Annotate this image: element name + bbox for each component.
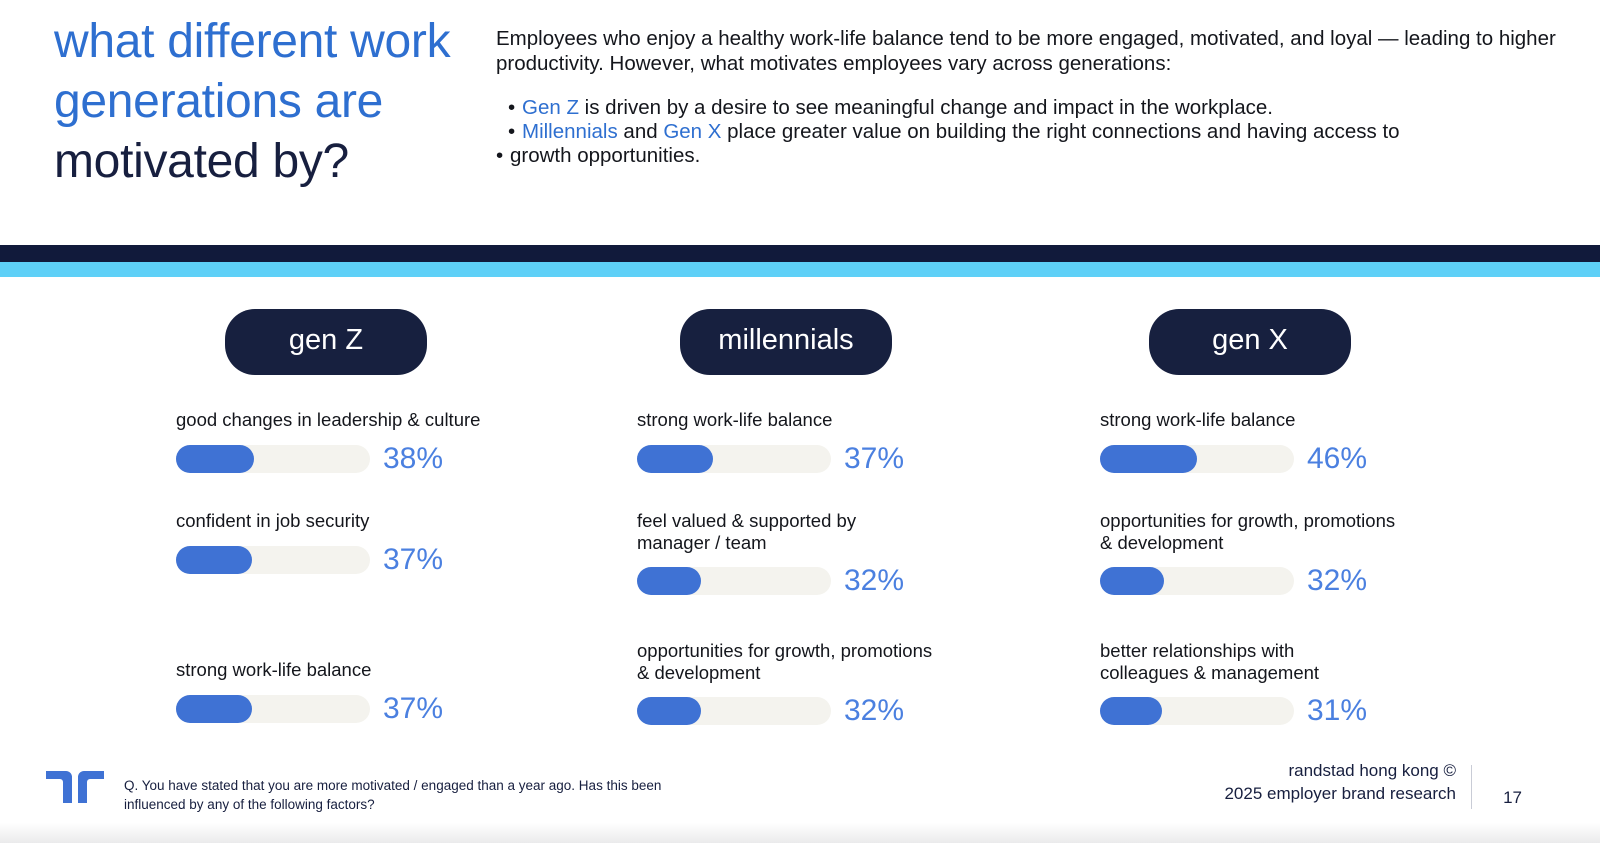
metric-label-line2: & development	[637, 662, 1057, 684]
title-line-2: generations are	[54, 72, 494, 132]
metric-row: feel valued & supported by manager / tea…	[637, 510, 1057, 596]
progress-fill	[176, 695, 252, 723]
metric-row: opportunities for growth, promotions & d…	[637, 640, 1057, 726]
progress-track	[176, 445, 370, 473]
metric-value: 31%	[1307, 696, 1367, 726]
title-line-1: what different work	[54, 12, 494, 72]
progress-fill	[1100, 697, 1162, 725]
metric-label-line2: manager / team	[637, 532, 1057, 554]
metric-label-line2: & development	[1100, 532, 1520, 554]
intro-block: Employees who enjoy a healthy work-life …	[496, 26, 1576, 168]
progress-track	[637, 567, 831, 595]
metric-label: opportunities for growth, promotions	[637, 640, 1057, 662]
metric-label-line2: colleagues & management	[1100, 662, 1520, 684]
bullet-0-text: is driven by a desire to see meaningful …	[579, 96, 1273, 119]
credit-line-1: randstad hong kong ©	[1224, 759, 1456, 782]
bullet-dot-icon: •	[508, 120, 515, 144]
metric-row: opportunities for growth, promotions & d…	[1100, 510, 1520, 596]
metric-value: 37%	[844, 444, 904, 474]
pill-wrap: millennials	[668, 309, 904, 375]
pill-wrap: gen Z	[208, 309, 444, 375]
metric-bar-row: 37%	[176, 694, 596, 724]
progress-track	[1100, 697, 1294, 725]
slide-header: what different work generations are moti…	[0, 0, 1600, 245]
progress-fill	[637, 567, 701, 595]
metric-label: confident in job security	[176, 510, 596, 532]
credit-line-2: 2025 employer brand research	[1224, 782, 1456, 805]
metric-value: 32%	[844, 566, 904, 596]
page-number: 17	[1503, 789, 1522, 806]
generation-bullet-list: • Gen Z is driven by a desire to see mea…	[496, 96, 1576, 168]
bullet-1-text-b: place greater value on building the righ…	[721, 120, 1399, 143]
metric-label: strong work-life balance	[176, 659, 596, 681]
progress-fill	[1100, 567, 1164, 595]
metric-bar-row: 38%	[176, 444, 596, 474]
metric-bar-row: 46%	[1100, 444, 1520, 474]
progress-track	[1100, 445, 1294, 473]
generation-badge-gen-z[interactable]: gen Z	[225, 309, 427, 375]
metric-value: 46%	[1307, 444, 1367, 474]
metric-value: 37%	[383, 694, 443, 724]
divider-band-navy	[0, 245, 1600, 262]
bullet-0-highlight: Gen Z	[522, 96, 579, 119]
metric-row: strong work-life balance 37%	[637, 409, 1057, 474]
survey-question-line-1: Q. You have stated that you are more mot…	[124, 776, 764, 795]
randstad-logo	[44, 765, 106, 805]
divider-band-cyan	[0, 262, 1600, 277]
bullet-1-text-a: and	[618, 120, 664, 143]
slide: what different work generations are moti…	[0, 0, 1600, 843]
footer-shadow	[0, 823, 1600, 843]
metric-value: 38%	[383, 444, 443, 474]
progress-track	[637, 445, 831, 473]
survey-question-note: Q. You have stated that you are more mot…	[124, 776, 764, 814]
progress-fill	[637, 697, 701, 725]
metric-label: good changes in leadership & culture	[176, 409, 596, 431]
credit-divider	[1471, 765, 1472, 809]
metric-bar-row: 32%	[637, 696, 1057, 726]
bullet-millennials-gen-x: • Millennials and Gen X place greater va…	[496, 120, 1576, 144]
pill-wrap: gen X	[1132, 309, 1368, 375]
metric-label: feel valued & supported by	[637, 510, 1057, 532]
survey-question-line-2: influenced by any of the following facto…	[124, 795, 764, 814]
progress-track	[1100, 567, 1294, 595]
progress-track	[176, 546, 370, 574]
generations-comparison: gen Z good changes in leadership & cultu…	[0, 277, 1600, 747]
title-line-3: motivated by?	[54, 132, 494, 192]
metric-label: strong work-life balance	[1100, 409, 1520, 431]
metric-value: 32%	[844, 696, 904, 726]
metric-row: strong work-life balance 46%	[1100, 409, 1520, 474]
metric-label: strong work-life balance	[637, 409, 1057, 431]
bullet-1-highlight-a: Millennials	[522, 120, 618, 143]
progress-fill	[176, 445, 254, 473]
metric-label: opportunities for growth, promotions	[1100, 510, 1520, 532]
progress-fill	[176, 546, 252, 574]
bullet-dot-icon: •	[496, 144, 503, 168]
metric-value: 32%	[1307, 566, 1367, 596]
bullet-1-highlight-b: Gen X	[663, 120, 721, 143]
report-credit: randstad hong kong © 2025 employer brand…	[1224, 759, 1456, 805]
metric-value: 37%	[383, 545, 443, 575]
metric-bar-row: 32%	[1100, 566, 1520, 596]
bullet-growth-continuation: • growth opportunities.	[496, 144, 1576, 168]
metric-row: strong work-life balance 37%	[176, 659, 596, 724]
progress-fill	[637, 445, 713, 473]
bullet-2-text: growth opportunities.	[510, 144, 700, 167]
bullet-gen-z: • Gen Z is driven by a desire to see mea…	[496, 96, 1576, 120]
metric-row: confident in job security 37%	[176, 510, 596, 575]
metric-label: better relationships with	[1100, 640, 1520, 662]
bullet-dot-icon: •	[508, 96, 515, 120]
slide-footer: Q. You have stated that you are more mot…	[0, 747, 1600, 843]
metric-bar-row: 32%	[637, 566, 1057, 596]
metric-row: better relationships with colleagues & m…	[1100, 640, 1520, 726]
generation-column-gen-x: gen X strong work-life balance 46% oppor…	[1100, 309, 1530, 375]
metric-bar-row: 31%	[1100, 696, 1520, 726]
metric-bar-row: 37%	[176, 545, 596, 575]
page-title: what different work generations are moti…	[54, 12, 494, 192]
progress-track	[176, 695, 370, 723]
generation-column-gen-z: gen Z good changes in leadership & cultu…	[176, 309, 606, 375]
metric-bar-row: 37%	[637, 444, 1057, 474]
progress-track	[637, 697, 831, 725]
generation-badge-millennials[interactable]: millennials	[680, 309, 891, 375]
metric-row: good changes in leadership & culture 38%	[176, 409, 596, 474]
generation-badge-gen-x[interactable]: gen X	[1149, 309, 1351, 375]
generation-column-millennials: millennials strong work-life balance 37%…	[637, 309, 1067, 375]
progress-fill	[1100, 445, 1197, 473]
intro-paragraph: Employees who enjoy a healthy work-life …	[496, 26, 1576, 76]
